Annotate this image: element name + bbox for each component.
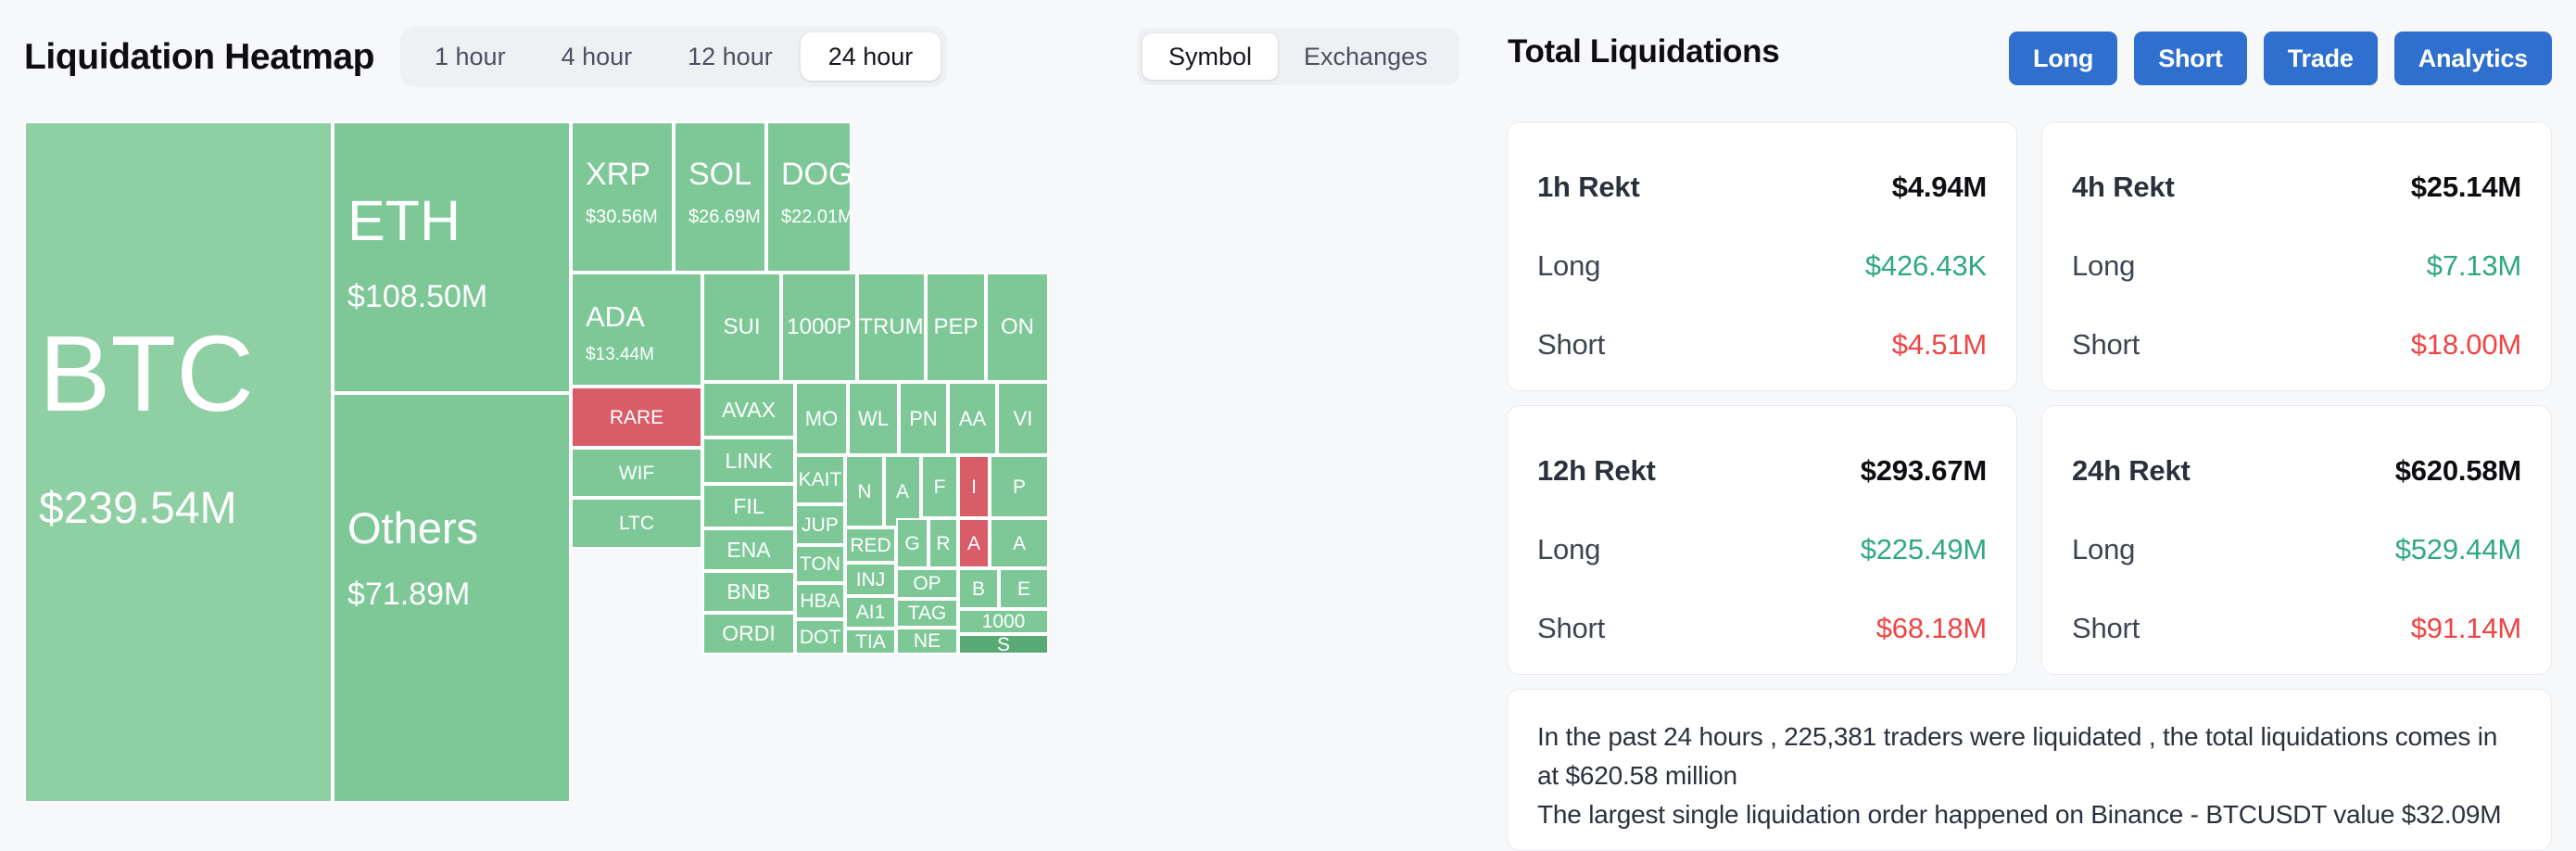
rekt-short-row: Short $4.51M xyxy=(1537,328,1987,362)
rekt-long-row: Long $426.43K xyxy=(1537,249,1987,283)
treemap-tile-symbol: TAG xyxy=(908,603,947,623)
treemap-tile-trump[interactable]: TRUM xyxy=(857,273,926,382)
treemap-tile-symbol: E xyxy=(1017,579,1030,599)
rekt-total-value: $25.14M xyxy=(2411,171,2521,204)
treemap-tile-symbol: A xyxy=(896,482,909,502)
tab-symbol[interactable]: Symbol xyxy=(1143,33,1278,80)
treemap-tile-hba[interactable]: HBA xyxy=(795,583,845,619)
treemap-tile-ordi[interactable]: ORDI xyxy=(702,613,795,654)
treemap-tile-symbol: XRP xyxy=(586,159,650,190)
rekt-short-label: Short xyxy=(1537,612,1605,645)
total-liquidations-title: Total Liquidations xyxy=(1508,33,1779,70)
treemap-tile-value: $108.50M xyxy=(347,281,487,312)
tab-12-hour[interactable]: 12 hour xyxy=(660,32,801,81)
rekt-short-label: Short xyxy=(1537,328,1605,362)
treemap-tile-g[interactable]: G xyxy=(896,518,928,568)
treemap-tile-b[interactable]: B xyxy=(958,568,999,609)
treemap-tile-pep[interactable]: PEP xyxy=(926,273,986,382)
treemap-tile-symbol: RARE xyxy=(610,408,663,427)
treemap-tile-symbol: AVAX xyxy=(722,400,776,421)
rekt-short-value: $18.00M xyxy=(2411,328,2521,362)
grouping-toggle-group: Symbol Exchanges xyxy=(1137,28,1459,85)
treemap-tile-doge[interactable]: DOGE $22.01M xyxy=(766,121,852,273)
treemap-tile-tia[interactable]: TIA xyxy=(845,629,896,654)
treemap-tile-symbol: RED xyxy=(850,536,890,555)
tab-24-hour[interactable]: 24 hour xyxy=(801,32,941,81)
long-button[interactable]: Long xyxy=(2009,32,2117,85)
treemap-tile-n[interactable]: N xyxy=(845,455,884,527)
treemap-tile-symbol: ADA xyxy=(586,302,645,331)
treemap-tile-ai1[interactable]: AI1 xyxy=(845,596,896,629)
treemap-tile-symbol: LINK xyxy=(725,451,772,472)
rekt-long-label: Long xyxy=(1537,533,1600,566)
rekt-short-row: Short $68.18M xyxy=(1537,612,1987,645)
treemap-tile-ltc[interactable]: LTC xyxy=(571,498,702,549)
treemap-tile-f[interactable]: F xyxy=(921,455,958,518)
rekt-total-value: $620.58M xyxy=(2395,454,2521,488)
rekt-total-value: $4.94M xyxy=(1892,171,1987,204)
rekt-long-value: $225.49M xyxy=(1861,533,1987,566)
treemap-tile-1000p[interactable]: 1000P xyxy=(781,273,857,382)
rekt-total-row: 24h Rekt $620.58M xyxy=(2072,454,2521,488)
treemap-tile-on[interactable]: ON xyxy=(986,273,1049,382)
tab-exchanges[interactable]: Exchanges xyxy=(1278,33,1454,80)
tab-4-hour[interactable]: 4 hour xyxy=(534,32,661,81)
treemap-tile-symbol: G xyxy=(904,534,919,553)
treemap-tile-symbol: B xyxy=(972,579,985,599)
treemap-tile-s[interactable]: S xyxy=(958,634,1049,654)
liquidation-treemap-viewport: BTC $239.54M ETH $108.50M Others $71.89M… xyxy=(24,121,1497,803)
treemap-tile-symbol: SUI xyxy=(723,316,760,338)
rekt-short-row: Short $91.14M xyxy=(2072,612,2521,645)
treemap-tile-symbol: F xyxy=(934,477,946,497)
summary-line-1: In the past 24 hours , 225,381 traders w… xyxy=(1537,718,2521,756)
treemap-tile-value: $30.56M xyxy=(586,208,658,226)
treemap-tile-symbol: BTC xyxy=(39,320,254,427)
treemap-tile-link[interactable]: LINK xyxy=(702,438,795,484)
treemap-tile-symbol: WIF xyxy=(619,464,654,483)
treemap-tile-symbol: N xyxy=(857,482,871,502)
rekt-long-row: Long $7.13M xyxy=(2072,249,2521,283)
treemap-tile-symbol: DOGE xyxy=(781,159,852,190)
treemap-tile-inj[interactable]: INJ xyxy=(845,563,896,596)
treemap-tile-sui[interactable]: SUI xyxy=(702,273,781,382)
rekt-short-value: $68.18M xyxy=(1876,612,1987,645)
rekt-card-title: 12h Rekt xyxy=(1537,454,1656,488)
treemap-tile-eth[interactable]: ETH $108.50M xyxy=(333,121,571,393)
rekt-long-label: Long xyxy=(1537,249,1600,283)
rekt-card-12h: 12h Rekt $293.67M Long $225.49M Short $6… xyxy=(1507,405,2017,675)
treemap-tile-ton[interactable]: TON xyxy=(795,545,845,583)
treemap-tile-symbol: LTC xyxy=(619,514,654,533)
treemap-tile-symbol: P xyxy=(1013,477,1026,497)
treemap-tile-ada[interactable]: ADA $13.44M xyxy=(571,273,702,387)
rekt-card-1h: 1h Rekt $4.94M Long $426.43K Short $4.51… xyxy=(1507,121,2017,391)
rekt-total-row: 4h Rekt $25.14M xyxy=(2072,171,2521,204)
treemap-tile-symbol: VI xyxy=(1014,409,1033,429)
treemap-tile-dot[interactable]: DOT xyxy=(795,619,845,654)
app-header: Liquidation Heatmap 1 hour 4 hour 12 hou… xyxy=(0,0,2576,116)
treemap-tile-symbol: JUP xyxy=(802,515,839,535)
treemap-tile-symbol: SOL xyxy=(688,159,751,190)
treemap-tile-symbol: 1000 xyxy=(982,612,1026,631)
rekt-long-value: $426.43K xyxy=(1865,249,1987,283)
rekt-long-row: Long $225.49M xyxy=(1537,533,1987,566)
treemap-tile-symbol: ORDI xyxy=(722,623,776,644)
treemap-tile-symbol: DOT xyxy=(800,628,840,647)
treemap-tile-value: $239.54M xyxy=(39,487,237,531)
treemap-tile-rare[interactable]: RARE xyxy=(571,387,702,448)
treemap-tile-symbol: S xyxy=(997,635,1010,654)
treemap-tile-symbol: TRUM xyxy=(859,316,923,338)
treemap-tile-symbol: KAIT xyxy=(799,470,842,489)
rekt-short-row: Short $18.00M xyxy=(2072,328,2521,362)
treemap-tile-ne[interactable]: NE xyxy=(896,628,958,654)
treemap-tile-symbol: ON xyxy=(1001,316,1034,338)
liquidation-treemap: BTC $239.54M ETH $108.50M Others $71.89M… xyxy=(24,121,1497,803)
summary-line-3: The largest single liquidation order hap… xyxy=(1537,795,2521,834)
treemap-tile-wl[interactable]: WL xyxy=(848,382,899,455)
rekt-total-value: $293.67M xyxy=(1861,454,1987,488)
treemap-tile-mo[interactable]: MO xyxy=(795,382,848,455)
treemap-tile-a2[interactable]: A xyxy=(958,518,990,568)
treemap-tile-value: $13.44M xyxy=(586,346,654,363)
treemap-tile-symbol: FIL xyxy=(733,496,764,517)
rekt-long-value: $7.13M xyxy=(2427,249,2521,283)
treemap-tile-r[interactable]: R xyxy=(928,518,958,568)
treemap-tile-pn[interactable]: PN xyxy=(899,382,948,455)
treemap-tile-symbol: AA xyxy=(959,409,986,429)
treemap-tile-a1[interactable]: A xyxy=(884,455,921,527)
treemap-tile-symbol: HBA xyxy=(800,591,840,611)
treemap-tile-symbol: BNB xyxy=(726,581,770,603)
rekt-card-title: 24h Rekt xyxy=(2072,454,2191,488)
treemap-tile-others[interactable]: Others $71.89M xyxy=(333,393,571,803)
treemap-tile-symbol: Others xyxy=(347,506,478,550)
action-button-group: Long Short Trade Analytics xyxy=(2009,32,2552,85)
rekt-card-24h: 24h Rekt $620.58M Long $529.44M Short $9… xyxy=(2041,405,2552,675)
treemap-tile-symbol: ENA xyxy=(726,540,770,561)
treemap-tile-symbol: OP xyxy=(913,574,941,593)
treemap-tile-symbol: PN xyxy=(909,409,938,429)
treemap-tile-symbol: NE xyxy=(914,631,941,651)
treemap-tile-symbol: 1000P xyxy=(787,316,851,338)
treemap-tile-aa[interactable]: AA xyxy=(948,382,997,455)
trade-button[interactable]: Trade xyxy=(2264,32,2378,85)
treemap-tile-sol[interactable]: SOL $26.69M xyxy=(674,121,766,273)
analytics-button[interactable]: Analytics xyxy=(2394,32,2552,85)
treemap-tile-symbol: TIA xyxy=(855,632,886,652)
rekt-short-value: $91.14M xyxy=(2411,612,2521,645)
short-button[interactable]: Short xyxy=(2134,32,2247,85)
summary-line-2: at $620.58 million xyxy=(1537,756,2521,795)
rekt-long-row: Long $529.44M xyxy=(2072,533,2521,566)
treemap-tile-symbol: I xyxy=(971,477,977,497)
treemap-tile-xrp[interactable]: XRP $30.56M xyxy=(571,121,674,273)
treemap-tile-symbol: AI1 xyxy=(856,603,886,622)
rekt-long-label: Long xyxy=(2072,249,2135,283)
treemap-tile-red[interactable]: RED xyxy=(845,527,896,563)
rekt-long-value: $529.44M xyxy=(2395,533,2521,566)
rekt-card-title: 1h Rekt xyxy=(1537,171,1640,204)
page-title: Liquidation Heatmap xyxy=(24,37,374,78)
treemap-tile-1000[interactable]: 1000 xyxy=(958,609,1049,634)
treemap-tile-op[interactable]: OP xyxy=(896,568,958,599)
treemap-tile-symbol: PEP xyxy=(933,316,978,338)
treemap-tile-tag[interactable]: TAG xyxy=(896,599,958,628)
rekt-card-4h: 4h Rekt $25.14M Long $7.13M Short $18.00… xyxy=(2041,121,2552,391)
liquidation-summary-card: In the past 24 hours , 225,381 traders w… xyxy=(1507,689,2552,851)
rekt-short-label: Short xyxy=(2072,328,2140,362)
treemap-tile-bnb[interactable]: BNB xyxy=(702,571,795,613)
treemap-tile-symbol: MO xyxy=(805,409,838,429)
treemap-tile-kait[interactable]: KAIT xyxy=(795,455,845,504)
treemap-tile-symbol: WL xyxy=(858,409,889,429)
treemap-tile-vi[interactable]: VI xyxy=(997,382,1049,455)
total-liquidations-panel: 1h Rekt $4.94M Long $426.43K Short $4.51… xyxy=(1507,121,2552,851)
treemap-tile-value: $26.69M xyxy=(688,208,761,226)
treemap-tile-e[interactable]: E xyxy=(999,568,1049,609)
rekt-card-title: 4h Rekt xyxy=(2072,171,2175,204)
rekt-long-label: Long xyxy=(2072,533,2135,566)
treemap-tile-symbol: INJ xyxy=(856,570,886,590)
treemap-tile-symbol: R xyxy=(936,534,950,553)
treemap-tile-symbol: A xyxy=(967,534,980,553)
treemap-tile-btc[interactable]: BTC $239.54M xyxy=(24,121,333,803)
treemap-tile-symbol: A xyxy=(1013,534,1026,553)
treemap-tile-ena[interactable]: ENA xyxy=(702,528,795,571)
treemap-tile-value: $22.01M xyxy=(781,208,852,226)
treemap-tile-a3[interactable]: A xyxy=(990,518,1049,568)
treemap-tile-symbol: ETH xyxy=(347,193,461,249)
rekt-short-value: $4.51M xyxy=(1892,328,1987,362)
tab-1-hour[interactable]: 1 hour xyxy=(407,32,534,81)
treemap-tile-avax[interactable]: AVAX xyxy=(702,382,795,438)
treemap-tile-symbol: TON xyxy=(800,554,840,574)
treemap-tile-i[interactable]: I xyxy=(958,455,990,518)
rekt-short-label: Short xyxy=(2072,612,2140,645)
rekt-total-row: 1h Rekt $4.94M xyxy=(1537,171,1987,204)
treemap-tile-p[interactable]: P xyxy=(990,455,1049,518)
treemap-tile-jup[interactable]: JUP xyxy=(795,504,845,545)
treemap-tile-value: $71.89M xyxy=(347,578,470,610)
rekt-total-row: 12h Rekt $293.67M xyxy=(1537,454,1987,488)
treemap-tile-wif[interactable]: WIF xyxy=(571,448,702,498)
treemap-tile-fil[interactable]: FIL xyxy=(702,484,795,528)
timeframe-tab-group: 1 hour 4 hour 12 hour 24 hour xyxy=(400,26,947,87)
